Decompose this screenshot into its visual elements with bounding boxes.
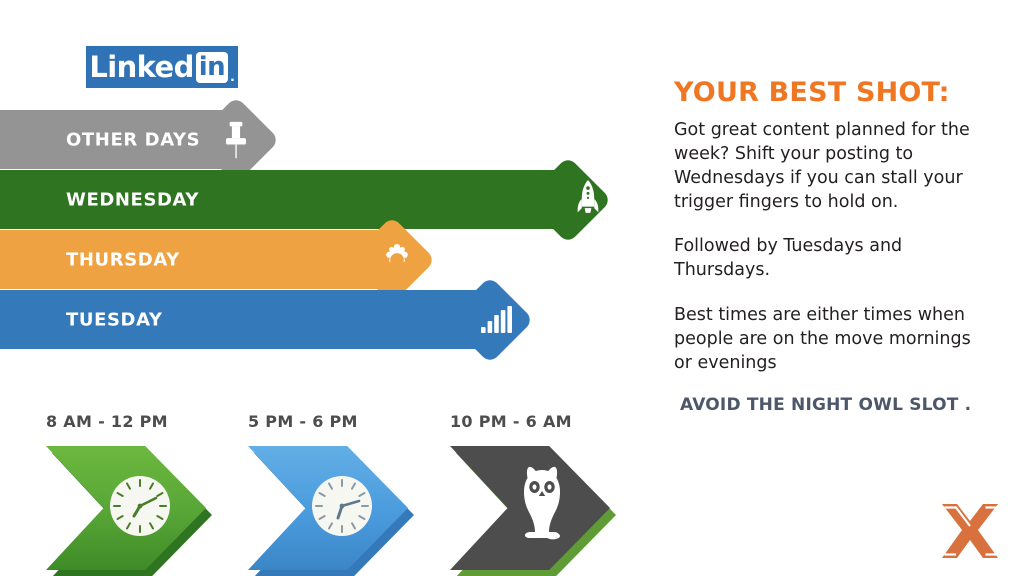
chevron-shape [248,446,408,570]
day-bar-other-days: OTHER DAYS [0,110,300,169]
chevron-shape [450,446,610,570]
infographic-canvas: Linked in . OTHER DAYS WEDNESDAY [0,0,1024,576]
x-brandmark [938,498,1004,558]
day-bar-thursday: THURSDAY [0,230,456,289]
day-bar-label: OTHER DAYS [66,129,200,150]
panel-paragraph-1: Got great content planned for the week? … [674,118,994,215]
clock-icon [108,474,172,543]
day-bar-label: THURSDAY [66,249,180,270]
linkedin-logo-word: Linked [89,53,193,82]
time-slot-evening: 5 PM - 6 PM [248,412,428,572]
gear-icon [377,240,417,280]
chevron-shape [46,446,206,570]
linkedin-logo: Linked in . [86,46,238,88]
bar-chart-icon [479,305,515,335]
time-slot-morning: 8 AM - 12 PM [46,412,226,572]
day-bar-body [0,230,392,289]
day-bar-label: WEDNESDAY [66,189,199,210]
linkedin-logo-in-box: in [196,52,228,83]
day-bar-label: TUESDAY [66,309,163,330]
pushpin-icon [219,120,253,160]
panel-paragraph-3: Best times are either times when people … [674,303,994,375]
linkedin-logo-dot: . [230,68,234,86]
day-bar-tuesday: TUESDAY [0,290,554,349]
panel-note: AVOID THE NIGHT OWL SLOT . [680,395,994,415]
best-shot-panel: YOUR BEST SHOT: Got great content planne… [674,78,994,415]
panel-paragraph-2: Followed by Tuesdays and Thursdays. [674,234,994,282]
clock-icon [310,474,374,543]
owl-icon [508,464,576,551]
day-bar-wednesday: WEDNESDAY [0,170,632,229]
time-slot-label: 8 AM - 12 PM [46,412,168,431]
time-slot-label: 10 PM - 6 AM [450,412,572,431]
time-slot-label: 5 PM - 6 PM [248,412,358,431]
time-slot-night: 10 PM - 6 AM [450,412,630,572]
panel-title: YOUR BEST SHOT: [674,78,994,108]
rocket-icon [572,179,604,221]
